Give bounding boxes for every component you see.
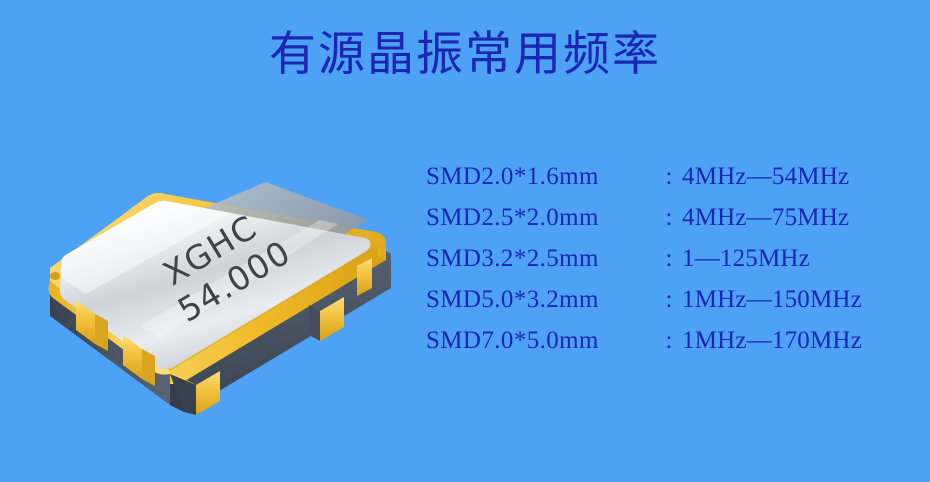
spec-frequency-range: 4MHz—54MHz <box>682 163 896 191</box>
spec-size: SMD2.0*1.6mm <box>426 163 656 191</box>
spec-separator: : <box>656 204 682 232</box>
spec-row: SMD2.0*1.6mm : 4MHz—54MHz <box>426 163 896 204</box>
spec-frequency-range: 1—125MHz <box>682 245 896 273</box>
spec-frequency-range: 4MHz—75MHz <box>682 204 896 232</box>
spec-row: SMD3.2*2.5mm : 1—125MHz <box>426 245 896 286</box>
spec-size: SMD7.0*5.0mm <box>426 327 656 355</box>
poster-canvas: 有源晶振常用频率 <box>0 0 930 482</box>
spec-frequency-range: 1MHz—170MHz <box>682 327 896 355</box>
spec-separator: : <box>656 286 682 314</box>
spec-row: SMD7.0*5.0mm : 1MHz—170MHz <box>426 327 896 368</box>
spec-separator: : <box>656 163 682 191</box>
spec-size: SMD3.2*2.5mm <box>426 245 656 273</box>
specification-list: SMD2.0*1.6mm : 4MHz—54MHz SMD2.5*2.0mm :… <box>426 163 896 368</box>
spec-size: SMD2.5*2.0mm <box>426 204 656 232</box>
spec-row: SMD2.5*2.0mm : 4MHz—75MHz <box>426 204 896 245</box>
spec-frequency-range: 1MHz—150MHz <box>682 286 896 314</box>
spec-size: SMD5.0*3.2mm <box>426 286 656 314</box>
spec-separator: : <box>656 245 682 273</box>
crystal-oscillator-image: XGHC 54.000 <box>20 148 420 418</box>
spec-separator: : <box>656 327 682 355</box>
page-title: 有源晶振常用频率 <box>0 28 930 82</box>
spec-row: SMD5.0*3.2mm : 1MHz—150MHz <box>426 286 896 327</box>
